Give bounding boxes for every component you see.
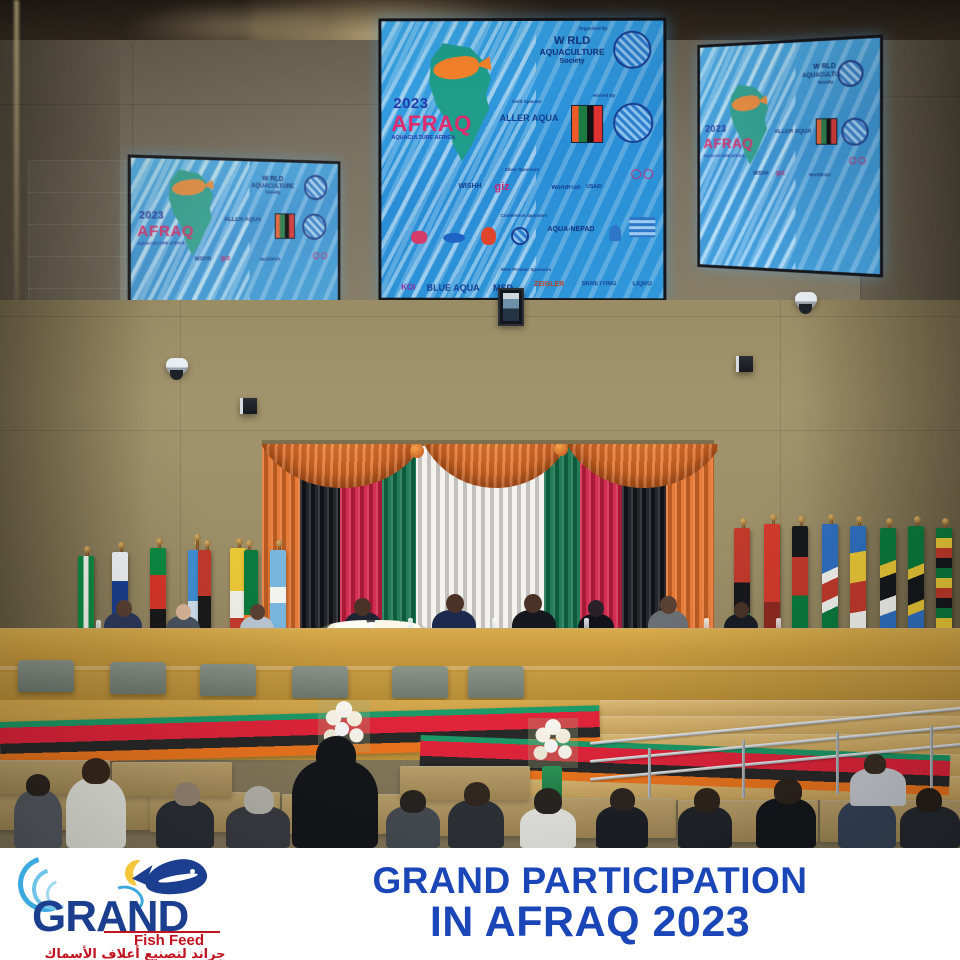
world-aquaculture-society-emblem (613, 31, 651, 69)
panelist-head (524, 594, 542, 613)
organiser-line-3: Society (543, 58, 601, 65)
wall-speaker-icon (240, 398, 257, 414)
panelist-head (354, 598, 371, 616)
led-screen-center[interactable]: 2023 AFRAQ AQUACULTURE AFRICA Organised … (378, 18, 666, 302)
chair (18, 660, 74, 692)
conference-sponsor-logo (411, 231, 427, 244)
headline-line-2: IN AFRAQ 2023 (250, 900, 930, 946)
slide-event-name: AFRAQ (137, 223, 194, 241)
premier-sponsor-logo: BLUE AQUA (425, 283, 481, 293)
chair (468, 666, 524, 698)
slide-event-name: AFRAQ (703, 135, 753, 152)
audience-member-head (534, 788, 562, 814)
audience-bench (112, 762, 232, 796)
chair (200, 664, 256, 696)
framed-portrait (498, 288, 524, 326)
gold-sponsor-logo: ALLER AQUA (222, 217, 264, 223)
host-country-emblem (816, 118, 838, 145)
host-institution-emblem (841, 117, 868, 145)
slide-event-year: 2023 (139, 210, 164, 222)
led-screen-left[interactable]: 2023 AFRAQ AQUACULTURE AFRICA W RLD AQUA… (128, 154, 341, 309)
audience-member-head (464, 782, 490, 806)
premier-sponsor-logo: SKRETTING (577, 281, 621, 287)
audience-member (900, 806, 960, 848)
slide-event-year: 2023 (393, 95, 428, 112)
premier-sponsor-logo: KOI (395, 283, 421, 292)
organiser-line-1: W RLD (249, 175, 297, 183)
slide-event-year: 2023 (705, 124, 726, 135)
audience-member (156, 800, 214, 848)
conference-sponsor-logo (609, 225, 621, 241)
host-institution-emblem (613, 103, 653, 143)
host-institution-emblem (302, 214, 326, 240)
valance-swag (558, 444, 718, 488)
conference-sponsor-logo (511, 227, 529, 245)
audience-member-head (916, 788, 942, 812)
wall-panel-line (28, 192, 126, 193)
wall-seam (0, 316, 960, 317)
gold-sponsor-label: Gold Sponsor (499, 99, 555, 104)
silver-sponsor-logo: WISHH (750, 171, 772, 177)
slide-event-subtitle: AQUACULTURE AFRICA (391, 135, 455, 141)
wall-panel-left (28, 160, 126, 312)
panelist-head (446, 594, 464, 613)
flag-mozambique (150, 548, 166, 638)
organiser-line-1: W RLD (537, 36, 607, 48)
chair (110, 662, 166, 694)
silver-sponsor-logo: USAID (581, 184, 607, 190)
audience-member (838, 800, 896, 848)
silver-sponsor-logo: WISHH (453, 183, 487, 190)
panelist-head (660, 596, 677, 614)
audience-member-head (400, 790, 426, 813)
premier-sponsor-logo: LIQRO (625, 281, 659, 287)
audience-member-head (244, 786, 274, 814)
panelist-head (250, 604, 265, 620)
wall-seam (180, 300, 181, 640)
wall-seam (780, 300, 781, 640)
slide-event-subtitle: AQUACULTURE AFRICA (703, 153, 744, 158)
slide-event-name: AFRAQ (391, 111, 471, 137)
flag-angola (198, 550, 211, 638)
wall-panel-line (28, 288, 126, 289)
gold-sponsor-logo: ALLER AQUA (774, 129, 812, 135)
silver-sponsor-logo: giz (774, 170, 787, 177)
sponsor-badge (321, 252, 327, 259)
audience-member (448, 800, 504, 848)
sponsor-badge (643, 169, 653, 179)
audience-member-head (174, 782, 200, 806)
silver-sponsor-logo: WISHH (190, 256, 216, 262)
flag-pole (196, 540, 199, 548)
handrail-post (648, 748, 651, 802)
audience-member (66, 778, 126, 848)
organised-by-label: Organised By (563, 26, 623, 31)
sponsor-badge (313, 252, 319, 259)
fish-eye-icon (190, 869, 195, 874)
conference-sponsor-logo (443, 233, 465, 243)
organiser-line-3: Society (254, 190, 291, 195)
slide-event-subtitle: AQUACULTURE AFRICA (137, 240, 185, 245)
poster-root: 2023 AFRAQ AQUACULTURE AFRICA Organised … (0, 0, 960, 960)
silver-sponsor-logo: WorldFish (258, 257, 282, 262)
brand-arabic-tagline: جراند لتصنيع أعلاف الأسماك (30, 947, 240, 960)
panelist-head (734, 602, 749, 618)
audience-member (678, 806, 732, 848)
valance-knot (554, 444, 568, 456)
grand-fish-feed-logo: GRAND Fish Feed جراند لتصنيع أعلاف الأسم… (0, 848, 250, 960)
wall-panel-line (28, 256, 126, 257)
valance-swag (258, 444, 432, 488)
world-aquaculture-society-emblem (304, 175, 327, 201)
handrail-post (742, 740, 745, 798)
audience-member-head (26, 774, 50, 796)
silver-sponsor-logo: giz (218, 255, 233, 262)
silver-sponsor-logo: WorldFish (549, 185, 583, 191)
conference-sponsor-logo: AQUA-NEPAD (541, 226, 601, 233)
conference-photo: 2023 AFRAQ AQUACULTURE AFRICA Organised … (0, 0, 960, 848)
led-screen-right[interactable]: 2023 AFRAQ AQUACULTURE AFRICA W RLD AQUA… (697, 34, 883, 277)
organiser-line-2: AQUACULTURE (531, 48, 613, 57)
silver-sponsor-label: Silver Sponsors (491, 167, 553, 172)
wall-seam (0, 104, 380, 105)
conference-sponsor-logo (629, 217, 655, 237)
audience-member-head (82, 758, 110, 784)
gold-sponsor-logo: ALLER AQUA (499, 113, 559, 123)
bottom-banner: GRAND Fish Feed جراند لتصنيع أعلاف الأسم… (0, 848, 960, 960)
sponsor-badge (631, 169, 641, 179)
audience-member-head (694, 788, 720, 812)
silver-sponsor-logo: giz (491, 181, 513, 193)
aisle-flower-arrangement (528, 718, 578, 768)
chair (292, 666, 348, 698)
curtain-valance (258, 444, 718, 510)
audience-member (520, 808, 576, 848)
audience-member-head (864, 754, 886, 774)
wall-corner-highlight (14, 0, 19, 330)
audience-member (14, 790, 62, 848)
valance-knot (410, 444, 424, 458)
chair (392, 666, 448, 698)
premier-sponsor-label: WAS Premier Sponsors (483, 267, 569, 272)
handrail-post (836, 732, 839, 794)
handrail-post (930, 726, 933, 790)
conference-sponsor-label: Conference Sponsors (489, 213, 559, 218)
panelist-head (588, 600, 604, 617)
hosted-by-label: Hosted By (579, 93, 629, 98)
panelist-head (176, 604, 191, 620)
audience-member-head (610, 788, 635, 811)
premier-sponsor-logo: ZEIGLER (529, 281, 569, 288)
sponsor-badge (858, 157, 865, 164)
wall-panel-line (28, 224, 126, 225)
silver-sponsor-logo: WorldFish (808, 172, 831, 177)
valance-swag (416, 444, 576, 488)
audience-member-head (316, 736, 356, 774)
host-country-emblem (275, 213, 295, 239)
audience-member-head (774, 778, 802, 804)
host-country-emblem (571, 105, 603, 143)
banner-headline: GRAND PARTICIPATION IN AFRAQ 2023 (250, 862, 960, 945)
headline-line-1: GRAND PARTICIPATION (250, 862, 930, 900)
panelist-head (116, 600, 132, 617)
audience-member (756, 798, 816, 848)
wall-seam (0, 430, 960, 431)
conference-sponsor-logo (481, 227, 496, 245)
sponsor-badge (849, 157, 856, 164)
wall-speaker-icon (736, 356, 753, 372)
audience-member (596, 806, 648, 848)
